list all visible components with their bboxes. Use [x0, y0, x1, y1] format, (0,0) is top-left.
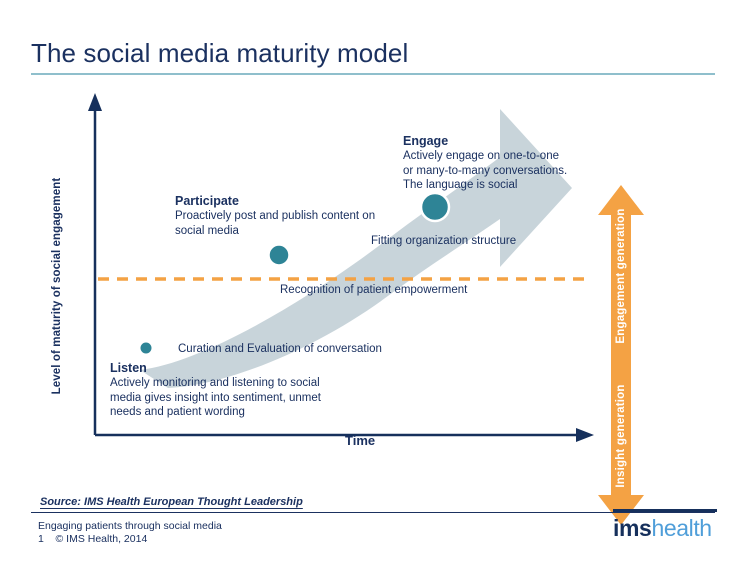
- stage-listen-description: Actively monitoring and listening to soc…: [110, 376, 380, 420]
- copyright-notice: 1 © IMS Health, 2014: [38, 533, 147, 545]
- annotation-curation-and-evaluation: Curation and Evaluation of conversation: [178, 343, 382, 355]
- engagement-generation-axis: Engagement generation Insight generation: [598, 185, 644, 525]
- y-axis-label: Level of maturity of social engagement: [51, 171, 63, 401]
- stage-participate: Participate Proactively post and publish…: [175, 193, 410, 238]
- stage-participate-title: Participate: [175, 193, 410, 209]
- title-divider: [31, 73, 715, 75]
- page-title: The social media maturity model: [31, 38, 408, 69]
- data-point-listen: [140, 342, 153, 355]
- stage-engage: Engage Actively engage on one-to-one or …: [403, 133, 613, 193]
- data-point-participate: [269, 245, 290, 266]
- x-axis-label: Time: [345, 433, 375, 448]
- maturity-model-chart: Level of maturity of social engagement T…: [0, 85, 751, 455]
- engagement-generation-label: Engagement generation: [615, 201, 627, 351]
- annotation-fitting-organization-structure: Fitting organization structure: [371, 235, 516, 247]
- stage-engage-description: Actively engage on one-to-one or many-to…: [403, 149, 613, 193]
- source-note: Source: IMS Health European Thought Lead…: [40, 496, 303, 508]
- data-point-engage: [421, 193, 449, 221]
- logo-wordmark: imshealth: [613, 516, 717, 541]
- stage-participate-description: Proactively post and publish content on …: [175, 209, 410, 238]
- logo-bar: [613, 509, 717, 512]
- stage-engage-title: Engage: [403, 133, 613, 149]
- stage-listen: Listen Actively monitoring and listening…: [110, 360, 380, 420]
- imshealth-logo: imshealth: [613, 509, 717, 541]
- deck-title: Engaging patients through social media: [38, 520, 222, 532]
- annotation-recognition-of-patient-empowerment: Recognition of patient empowerment: [280, 284, 467, 296]
- insight-generation-label: Insight generation: [615, 361, 627, 511]
- logo-health: health: [651, 515, 711, 541]
- y-axis: [88, 93, 102, 435]
- logo-ims: ims: [613, 515, 651, 541]
- stage-listen-title: Listen: [110, 360, 380, 376]
